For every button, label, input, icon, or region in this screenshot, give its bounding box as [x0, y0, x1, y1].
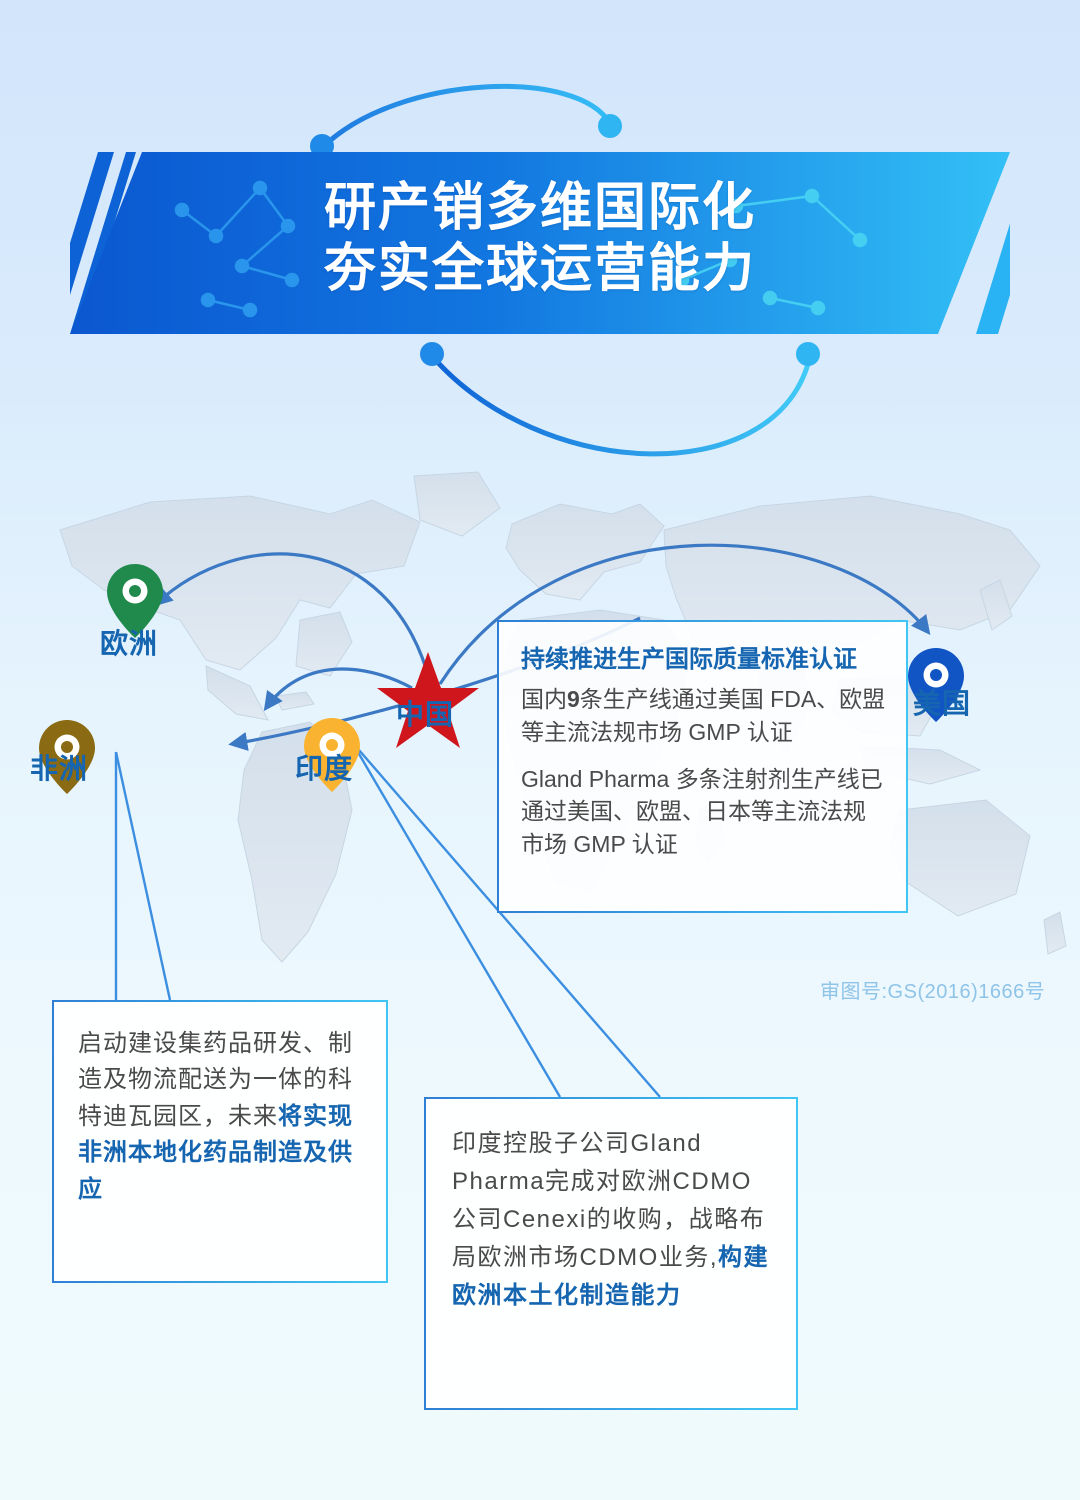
marker-label-china: 中国 [396, 693, 454, 733]
title-banner: 研产销多维国际化 夯实全球运营能力 [70, 148, 1010, 338]
infobox-africa: 启动建设集药品研发、制造及物流配送为一体的科特迪瓦园区，未来将实现非洲本地化药品… [52, 1000, 388, 1283]
infobox-africa-text: 启动建设集药品研发、制造及物流配送为一体的科特迪瓦园区，未来将实现非洲本地化药品… [78, 1026, 364, 1208]
decor-dot [420, 342, 444, 366]
infographic-canvas: 研产销多维国际化 夯实全球运营能力 [0, 0, 1080, 1500]
decor-arc-bottom [390, 330, 840, 490]
cert-para1-number: 9 [567, 686, 580, 712]
infobox-certification-para2: Gland Pharma 多条注射剂生产线已通过美国、欧盟、日本等主流法规市场 … [521, 763, 886, 861]
marker-label-africa: 非洲 [30, 747, 88, 787]
infobox-certification-para1: 国内9条生产线通过美国 FDA、欧盟等主流法规市场 GMP 认证 [521, 683, 886, 748]
marker-label-india: 印度 [295, 747, 353, 787]
marker-label-europe: 欧洲 [100, 622, 158, 662]
infobox-certification-heading: 持续推进生产国际质量标准认证 [521, 644, 886, 675]
marker-label-usa: 美国 [913, 682, 971, 722]
infobox-india-text: 印度控股子公司Gland Pharma完成对欧洲CDMO公司Cenexi的收购，… [452, 1125, 774, 1315]
decor-dot [598, 114, 622, 138]
map-credit-text: 审图号:GS(2016)1666号 [820, 975, 1045, 1004]
infobox-certification: 持续推进生产国际质量标准认证 国内9条生产线通过美国 FDA、欧盟等主流法规市场… [497, 620, 908, 913]
banner-title: 研产销多维国际化 夯实全球运营能力 [70, 178, 1010, 300]
banner-title-line2: 夯实全球运营能力 [70, 239, 1010, 300]
banner-title-line1: 研产销多维国际化 [70, 178, 1010, 239]
infobox-india: 印度控股子公司Gland Pharma完成对欧洲CDMO公司Cenexi的收购，… [424, 1097, 798, 1410]
cert-para1-a: 国内 [521, 686, 567, 712]
pointer-africa-b [116, 752, 170, 1000]
decor-dot [796, 342, 820, 366]
